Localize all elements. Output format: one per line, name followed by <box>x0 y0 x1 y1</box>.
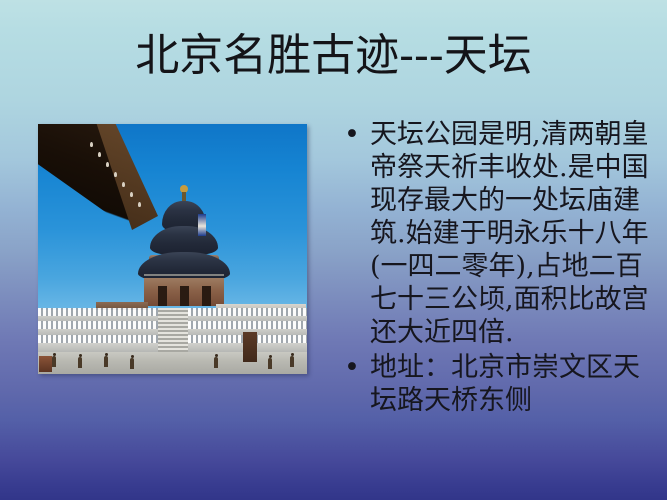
temple-banner <box>198 214 206 236</box>
eave-figurine-icon <box>106 162 109 167</box>
temple-door <box>158 286 167 306</box>
list-item: • 天坛公园是明,清两朝皇帝祭天祈丰收处.是中国现存最大的一处坛庙建筑.始建于明… <box>332 118 662 349</box>
eave-figurine-icon <box>114 172 117 177</box>
visitor-figure <box>290 356 294 367</box>
bullet-marker-icon: • <box>344 118 360 151</box>
eave-figurine-icon <box>130 192 133 197</box>
roof-band <box>144 274 224 276</box>
page-title: 北京名胜古迹---天坛 <box>0 28 667 84</box>
temple-door <box>180 286 189 306</box>
eave-figurine-icon <box>122 182 125 187</box>
eave-figurine-icon <box>98 152 101 157</box>
slide-canvas: 北京名胜古迹---天坛 <box>0 0 667 500</box>
wooden-kiosk <box>39 356 52 372</box>
visitor-figure <box>130 358 134 369</box>
bullet-text: 天坛公园是明,清两朝皇帝祭天祈丰收处.是中国现存最大的一处坛庙建筑.始建于明永乐… <box>370 118 662 349</box>
bullet-text: 地址：北京市崇文区天坛路天桥东侧 <box>370 351 662 417</box>
eave-figurine-icon <box>90 142 93 147</box>
visitor-figure <box>268 358 272 369</box>
temple-of-heaven-photo <box>38 124 307 374</box>
photo-canvas <box>38 124 307 374</box>
visitor-figure <box>214 357 218 368</box>
visitor-figure <box>104 356 108 367</box>
temple-base-wall <box>144 278 224 306</box>
temple-door <box>202 286 211 306</box>
hall-of-prayer-building <box>136 186 232 322</box>
visitor-figure <box>52 356 56 367</box>
visitor-figure <box>78 357 82 368</box>
list-item: • 地址：北京市崇文区天坛路天桥东侧 <box>332 351 662 417</box>
wooden-kiosk <box>243 332 257 362</box>
body-text-column: • 天坛公园是明,清两朝皇帝祭天祈丰收处.是中国现存最大的一处坛庙建筑.始建于明… <box>332 118 662 419</box>
bullet-marker-icon: • <box>344 351 360 384</box>
